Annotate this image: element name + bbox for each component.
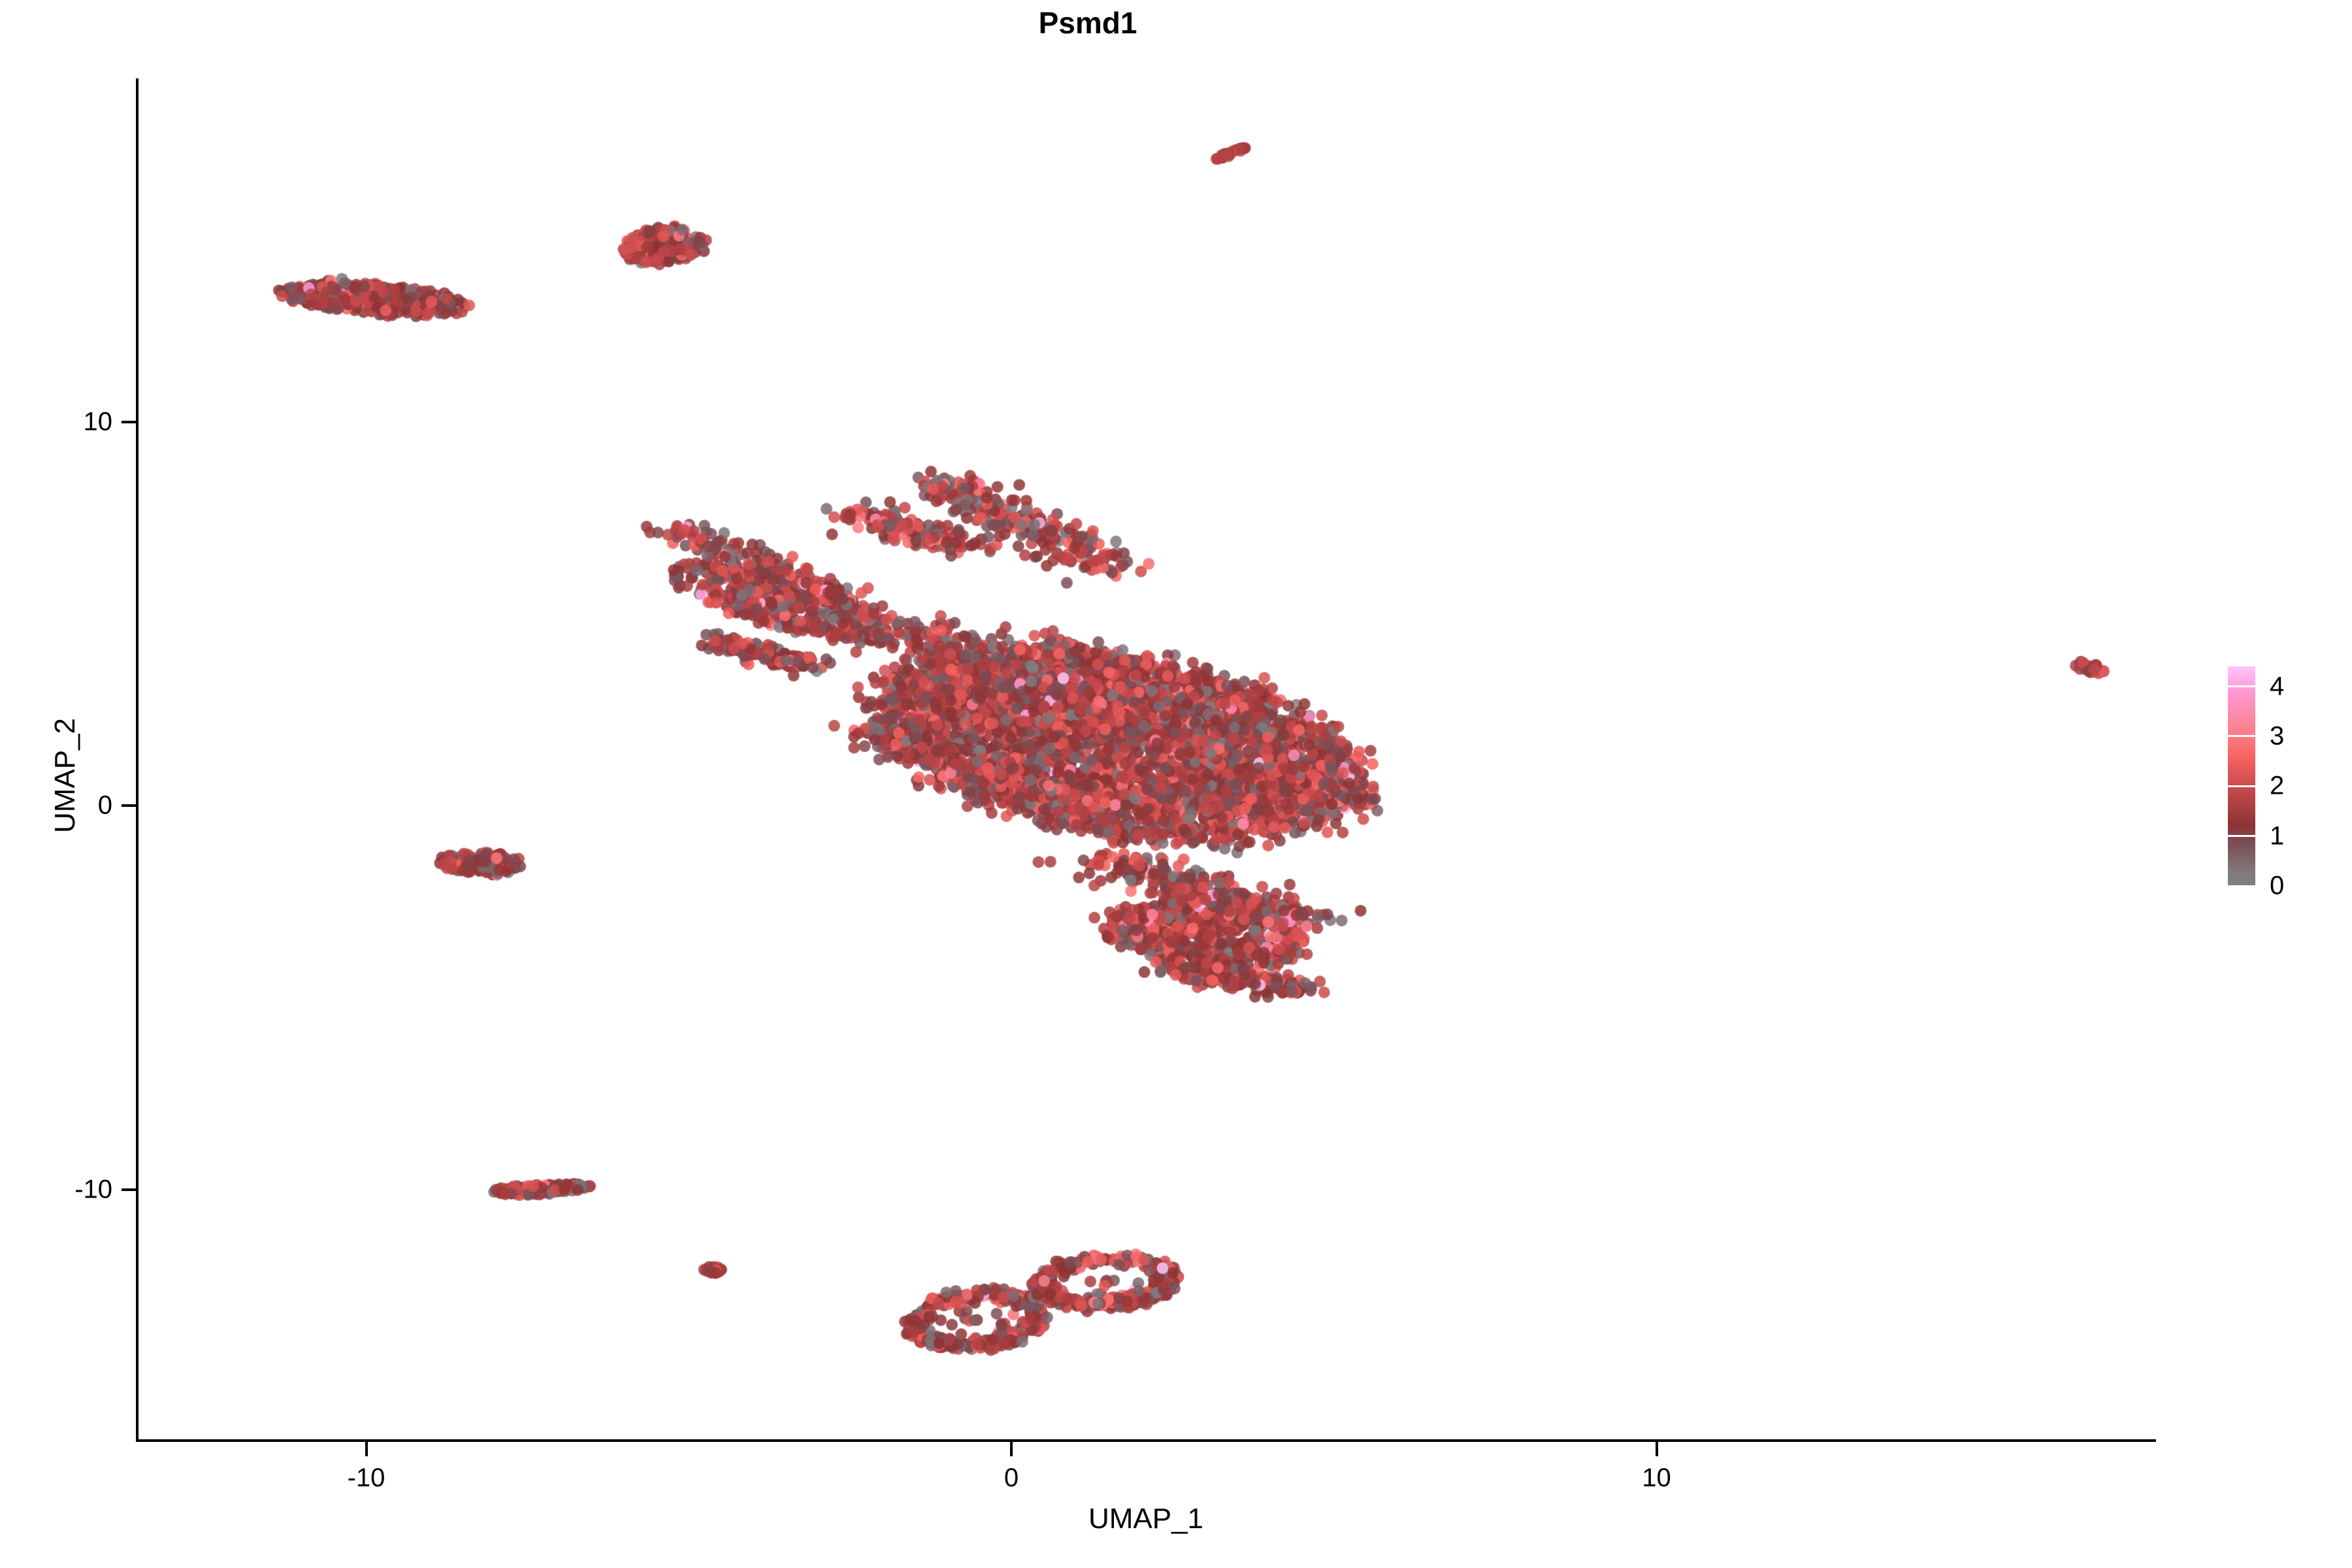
colorbar-tick-label: 3 <box>2270 721 2284 751</box>
colorbar-tick <box>2228 885 2255 887</box>
x-axis-tick <box>1010 1442 1013 1456</box>
y-axis-tick-label: 0 <box>98 791 112 821</box>
x-axis-tick <box>365 1442 368 1456</box>
x-axis-tick-label: 10 <box>1642 1463 1671 1493</box>
y-axis-label: UMAP_2 <box>49 710 82 841</box>
y-axis-line <box>136 78 139 1441</box>
figure-canvas: Psmd1 -10 0 10 10 0 -10 UMAP_1 UMAP_2 4 … <box>0 0 2352 1568</box>
colorbar-tick <box>2228 835 2255 837</box>
y-axis-tick-label: -10 <box>74 1175 112 1204</box>
x-axis-line <box>136 1439 2156 1442</box>
colorbar-tick <box>2228 735 2255 737</box>
x-axis-tick <box>1656 1442 1658 1456</box>
x-axis-tick-label: 0 <box>1004 1463 1019 1493</box>
colorbar-tick-label: 4 <box>2270 672 2284 701</box>
page-title: Psmd1 <box>0 5 2176 41</box>
colorbar-tick <box>2228 685 2255 687</box>
x-axis-tick-label: -10 <box>348 1463 385 1493</box>
colorbar-tick-label: 1 <box>2270 821 2284 851</box>
colorbar-tick <box>2228 785 2255 787</box>
y-axis-tick <box>122 421 136 423</box>
y-axis-tick-label: 10 <box>84 407 113 436</box>
scatter-points-layer <box>137 78 2156 1441</box>
y-axis-tick <box>122 1188 136 1191</box>
colorbar-legend: 4 3 2 1 0 <box>2228 666 2345 902</box>
colorbar-tick-label: 0 <box>2270 872 2284 901</box>
x-axis-label: UMAP_1 <box>136 1503 2156 1535</box>
colorbar-gradient <box>2228 666 2255 886</box>
colorbar-tick-label: 2 <box>2270 772 2284 801</box>
y-axis-tick <box>122 804 136 807</box>
